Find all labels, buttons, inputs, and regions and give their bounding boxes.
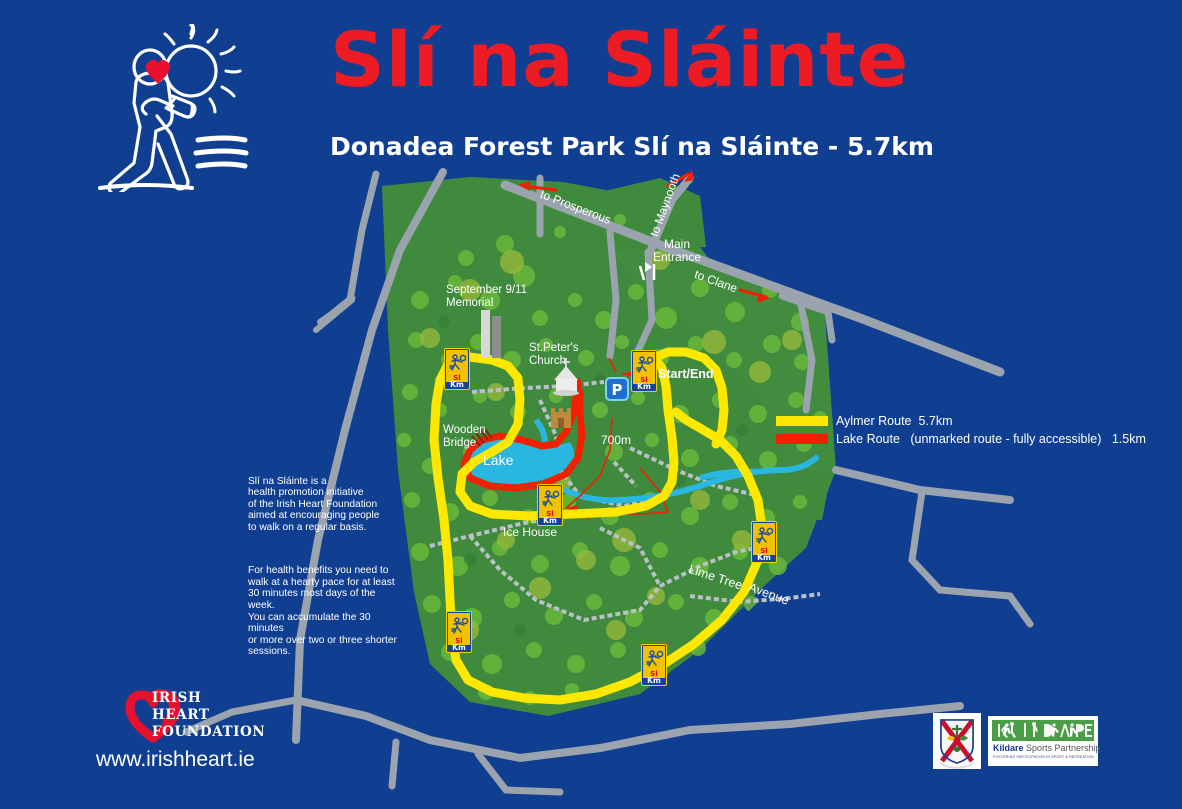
km-marker-label: Km: [642, 676, 666, 685]
castle-ruin-icon: [551, 408, 571, 428]
km-marker-south-west[interactable]: Sl Km: [446, 611, 472, 653]
ksp-name-rest: Sports Partnership: [1024, 743, 1101, 753]
km-marker-label: Km: [752, 553, 776, 562]
km-marker-label: Km: [447, 643, 471, 652]
km-marker-north-west[interactable]: Sl Km: [444, 348, 470, 390]
legend-label-lake: Lake Route (unmarked route - fully acces…: [836, 432, 1146, 446]
kildare-sports-partnership-logo: Kildare Sports Partnership FOSTERING PAR…: [988, 716, 1098, 766]
kildare-sports-partnership-name: Kildare Sports Partnership: [993, 743, 1101, 753]
info-paragraph-2: For health benefits you need to walk at …: [248, 565, 398, 658]
page-subtitle: Donadea Forest Park Slí na Sláinte - 5.7…: [330, 132, 934, 161]
km-marker-pictogram: [753, 523, 775, 547]
km-marker-pictogram: [633, 352, 655, 376]
walking-figure-icon: [542, 489, 560, 508]
km-marker-pictogram: [539, 486, 561, 510]
info-text-block: Slí na Sláinte is a health promotion ini…: [248, 464, 398, 670]
legend-label-aylmer: Aylmer Route 5.7km: [836, 414, 952, 428]
legend-row-lake: Lake Route (unmarked route - fully acces…: [776, 432, 1146, 446]
walking-figure-icon: [451, 616, 469, 635]
km-marker-label: Km: [538, 516, 562, 525]
poster-canvas: P: [0, 0, 1182, 809]
kildare-county-crest-icon: [933, 713, 981, 769]
legend-swatch-aylmer: [776, 416, 828, 426]
km-marker-pictogram: [643, 646, 665, 670]
walking-figure-icon: [636, 355, 654, 374]
km-marker-pictogram: [448, 613, 470, 637]
walking-figure-icon: [449, 353, 467, 372]
km-marker-label: Km: [445, 380, 469, 389]
map-legend: Aylmer Route 5.7km Lake Route (unmarked …: [776, 414, 1146, 450]
sli-na-slainte-walker-logo: [88, 24, 258, 192]
legend-swatch-lake: [776, 434, 828, 444]
page-title: Slí na Sláinte: [330, 22, 909, 98]
kildare-wordmark-graphic: [992, 720, 1094, 741]
km-marker-start-end[interactable]: Sl Km: [631, 350, 657, 392]
legend-row-aylmer: Aylmer Route 5.7km: [776, 414, 1146, 428]
km-marker-pictogram: [446, 350, 468, 374]
kildare-sports-partnership-tagline: FOSTERING PARTICIPATION IN SPORT & RECRE…: [993, 755, 1094, 759]
walking-figure-icon: [756, 526, 774, 545]
ksp-name-bold: Kildare: [993, 743, 1024, 753]
km-marker-south[interactable]: Sl Km: [641, 644, 667, 686]
irish-heart-foundation-name: IRISH HEART FOUNDATION: [152, 690, 265, 741]
parking-icon[interactable]: P: [606, 378, 628, 400]
km-marker-label: Km: [632, 382, 656, 391]
svg-text:P: P: [612, 381, 623, 399]
km-marker-lime-tree[interactable]: Sl Km: [751, 521, 777, 563]
website-url[interactable]: www.irishheart.ie: [96, 748, 255, 772]
walking-figure-icon: [646, 649, 664, 668]
info-paragraph-1: Slí na Sláinte is a health promotion ini…: [248, 476, 398, 534]
km-marker-ice-house[interactable]: Sl Km: [537, 484, 563, 526]
